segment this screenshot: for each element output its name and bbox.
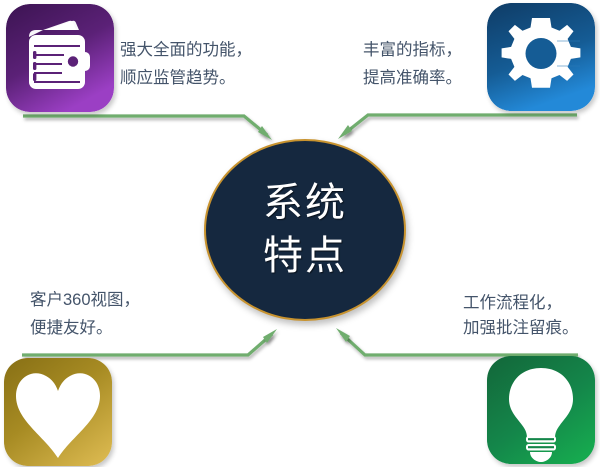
center-title-line-1: 系统 [263,177,347,230]
caption-top-right-line-2: 提高准确率。 [363,64,462,92]
caption-bottom-left: 客户360视图， 便捷友好。 [30,286,140,343]
connector-top-right [344,115,577,134]
connector-top-left [23,116,267,135]
arrowhead-top-right [338,125,352,139]
caption-top-right-line-1: 丰富的指标， [363,36,462,64]
caption-top-right: 丰富的指标， 提高准确率。 [363,36,462,93]
caption-top-left-line-2: 顺应监管趋势。 [120,64,252,92]
caption-top-left: 强大全面的功能， 顺应监管趋势。 [120,36,252,93]
caption-top-left-line-1: 强大全面的功能， [120,36,252,64]
caption-bottom-right-line-2: 加强批注留痕。 [463,316,579,341]
gear-icon[interactable] [487,3,595,111]
arrowhead-bottom-left [263,329,277,343]
wallet-icon[interactable] [6,4,114,112]
arrowhead-bottom-right [336,328,350,342]
caption-bottom-left-line-1: 客户360视图， [30,286,140,314]
lightbulb-icon[interactable] [487,356,595,464]
center-title-line-2: 特点 [263,230,347,283]
center-node[interactable]: 系统 特点 [204,139,406,321]
caption-bottom-right: 工作流程化， 加强批注留痕。 [463,291,579,341]
heart-icon[interactable] [4,358,112,466]
caption-bottom-right-line-1: 工作流程化， [463,291,579,316]
arrowhead-top-left [258,126,272,140]
caption-bottom-left-line-2: 便捷友好。 [30,314,140,342]
diagram-canvas: 系统 特点 强大全面的功能， 顺应监管趋势。 丰富的指标， 提高准确率。 客户3… [0,0,600,467]
